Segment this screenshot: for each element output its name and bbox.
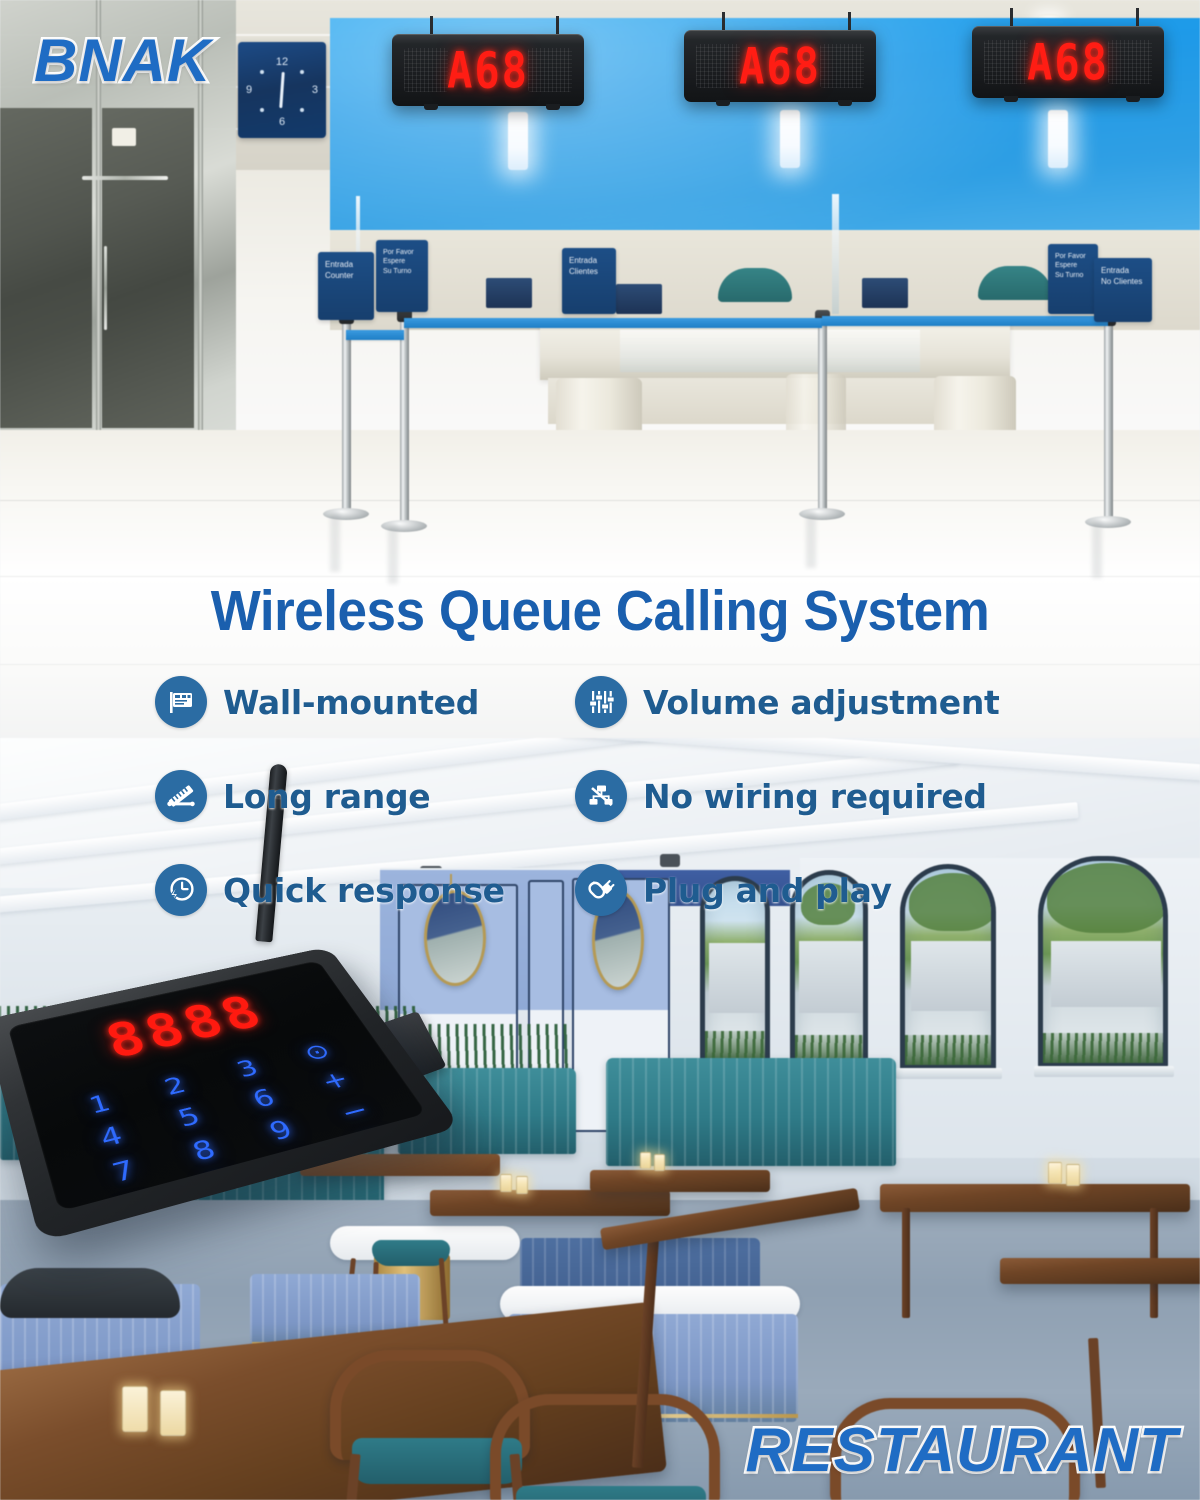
feature-label: Volume adjustment [643,683,1000,722]
chair-seat [516,1486,706,1500]
device-body: 8888 1 2 3 ⊙ 4 5 6 + 7 8 9 − ← 0 ✓ [0,947,461,1243]
clock-dot [260,70,264,74]
feature-volume-adjustment: Volume adjustment [575,676,1045,728]
key-0[interactable]: 0 [205,1172,237,1203]
led-number: A68 [1027,33,1109,91]
window-planter [705,1031,765,1061]
display-foot [838,100,852,106]
key-3[interactable]: 3 [234,1057,263,1081]
clock-mark-12: 12 [276,56,288,68]
queue-post [400,314,409,526]
floor-tile-line [0,664,1200,665]
candle-holder [122,1386,148,1432]
ruler-icon [155,770,207,822]
exterior-building [709,943,767,1013]
bar-stool [0,1268,180,1318]
key-7[interactable]: 7 [109,1157,138,1187]
teller-monitor [616,284,662,314]
brand-logo: BNAK [34,26,211,95]
floor-tile-line [0,576,1200,577]
speaker-grille-icon [528,48,572,92]
queue-sign: Entrada Clientes [562,248,616,314]
clock-bolt-icon [155,864,207,916]
sign-line: Entrada [325,260,367,271]
sign-line: No Clientes [1101,277,1145,288]
key-6[interactable]: 6 [249,1086,279,1112]
device-face: 8888 1 2 3 ⊙ 4 5 6 + 7 8 9 − ← 0 ✓ [8,960,427,1211]
feature-plug-and-play: Plug and play [575,864,1045,916]
queue-post [818,318,827,514]
wall-sign-icon [155,676,207,728]
push-bar [82,176,168,180]
led-number: A68 [447,41,529,99]
feature-list: Wall-mounted Volume adjustment [0,676,1200,916]
feature-quick-response: Quick response [155,864,555,916]
door-panel [102,108,194,428]
queue-sign: Por Favor Espere Su Turno [376,240,428,312]
door-panel [0,108,92,428]
key-minus[interactable]: − [336,1098,374,1126]
clock-dot [260,108,264,112]
window-planter [905,1035,991,1065]
sign-line: Por Favor [383,248,421,257]
led-display-unit: A68 [972,26,1164,98]
teller-monitor [862,278,908,308]
feature-label: Quick response [223,871,505,910]
queue-belt [822,316,1108,326]
wall-clock: 12 3 6 9 [238,42,326,138]
exterior-building [911,941,991,1011]
queue-sign: Por Favor Espere Su Turno [1048,244,1098,314]
speaker-grille-icon [820,44,864,88]
led-display-unit: A68 [684,30,876,102]
floor-reflection [806,512,816,568]
key-9[interactable]: 9 [266,1118,297,1146]
table-leg [902,1208,910,1318]
floor-reflection [330,512,340,572]
speaker-grille-icon [984,40,1028,84]
speaker-grille-icon [696,44,740,88]
queue-keypad-device: 8888 1 2 3 ⊙ 4 5 6 + 7 8 9 − ← 0 ✓ [8,906,428,1236]
candle-holder [1048,1162,1062,1184]
dining-table [430,1190,670,1216]
speaker-grille-icon [1108,40,1152,84]
display-foot [1004,96,1018,102]
dining-chair [490,1394,720,1500]
clock-mark-9: 9 [246,84,252,96]
restaurant-tag: RESTAURANT [746,1415,1179,1486]
clock-mark-3: 3 [312,84,318,96]
sign-line: Su Turno [383,267,421,276]
display-foot [716,100,730,106]
dining-table [590,1170,770,1192]
key-1[interactable]: 1 [87,1092,114,1118]
dining-table [1000,1258,1200,1284]
display-foot [546,104,560,110]
feature-long-range: Long range [155,770,555,822]
sign-line: Espere [383,257,421,266]
queue-post [1104,318,1113,522]
feature-no-wiring-required: No wiring required [575,770,1045,822]
queue-belt [404,318,822,328]
candle-holder [640,1152,651,1169]
sign-line: Su Turno [1055,271,1091,280]
candle-holder [1066,1164,1080,1186]
feature-label: Wall-mounted [223,683,479,722]
teller-monitor [486,278,532,308]
clock-dot [300,70,304,74]
pendant-light [508,112,528,170]
speaker-grille-icon [404,48,448,92]
queue-post [342,316,351,514]
feature-label: Long range [223,777,430,816]
sign-line: Counter [325,271,367,282]
exterior-building [1051,941,1161,1007]
key-power[interactable]: ⊙ [300,1040,335,1064]
window-sill [896,1068,1002,1079]
floor-reflection [1092,520,1102,578]
page-title: Wireless Queue Calling System [42,578,1158,644]
clock-hand [279,72,285,108]
feature-wall-mounted: Wall-mounted [155,676,555,728]
door-sticker [112,128,136,146]
clock-dot [300,108,304,112]
key-plus[interactable]: + [318,1068,354,1094]
key-confirm[interactable]: ✓ [281,1150,320,1181]
sliders-icon [575,676,627,728]
plug-icon [575,864,627,916]
sign-line: Entrada [569,256,609,267]
led-display-unit: A68 [392,34,584,106]
queue-belt [346,330,404,340]
key-8[interactable]: 8 [189,1137,219,1166]
window-sill [1034,1066,1174,1077]
sign-line: Espere [1055,261,1091,270]
sign-line: Clientes [569,267,609,278]
sign-line: Entrada [1101,266,1145,277]
candle-holder [516,1176,528,1194]
key-5[interactable]: 5 [175,1105,204,1132]
product-poster: 12 3 6 9 [0,0,1200,1500]
sign-line: Por Favor [1055,252,1091,261]
display-foot [1126,96,1140,102]
feature-label: No wiring required [643,777,987,816]
no-wiring-icon [575,770,627,822]
counter-glass [620,330,920,372]
candle-holder [500,1174,512,1192]
key-2[interactable]: 2 [162,1074,190,1099]
display-foot [424,104,438,110]
pendant-light [780,110,800,168]
clock-mark-6: 6 [279,116,285,128]
queue-sign: Entrada No Clientes [1094,258,1152,322]
key-back[interactable]: ← [119,1193,157,1212]
floor-reflection [388,524,398,584]
exterior-building [799,941,865,1013]
candle-holder [654,1154,665,1171]
feature-label: Plug and play [643,871,892,910]
door-handle [104,246,107,330]
banquette-seat [606,1058,896,1166]
key-speaker[interactable]: ◉ [356,1130,396,1160]
screen-divider [832,194,839,314]
key-4[interactable]: 4 [98,1124,126,1152]
pendant-light [1048,110,1068,168]
led-number: A68 [739,37,821,95]
candle-holder [160,1390,186,1436]
floor-tile-line [0,500,1200,501]
queue-sign: Entrada Counter [318,252,374,320]
window-planter [1043,1033,1163,1063]
dining-table [880,1184,1190,1212]
